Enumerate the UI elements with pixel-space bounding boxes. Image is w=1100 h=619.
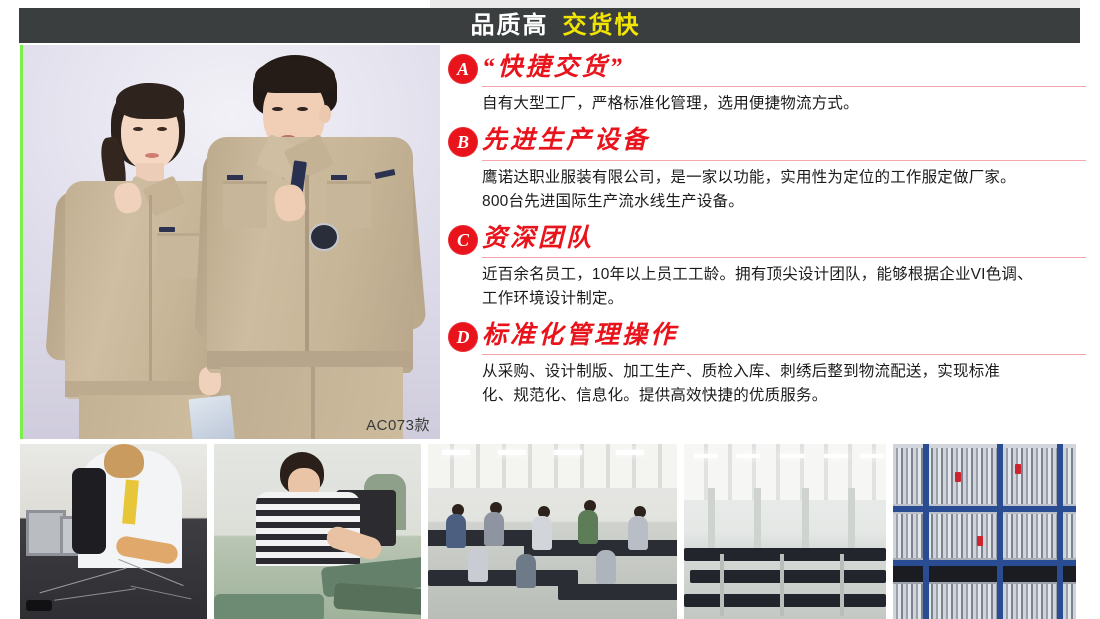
feature-body-b-line-1: 鹰诺达职业服装有限公司，是一家以功能，实用性为定位的工作服定做厂家。 (482, 166, 1086, 190)
feature-body-d-line-2: 化、规范化、信息化。提供高效快捷的优质服务。 (482, 384, 1086, 408)
header-banner: 品质高 交货快 (19, 8, 1080, 43)
worker-body (484, 512, 504, 546)
worker-vest (72, 468, 106, 554)
feature-badge-d: D (448, 322, 478, 352)
model-male-wristwatch (309, 223, 339, 251)
feature-divider-d (482, 354, 1086, 355)
model-male-navy-tab-right (331, 175, 347, 180)
model-female-lips (145, 153, 159, 158)
cutting-tool (26, 600, 52, 611)
ceiling-lamp-icon (736, 454, 760, 458)
feature-item-c: C 资深团队 近百余名员工，10年以上员工工龄。拥有顶尖设计团队，能够根据企业V… (448, 223, 1086, 311)
fabric-bundle (214, 594, 324, 619)
gallery-thumb-cutting-workshop[interactable] (20, 444, 207, 619)
feature-body-a-line-1: 自有大型工厂，严格标准化管理，选用便捷物流方式。 (482, 92, 1086, 116)
worker-body (516, 554, 536, 588)
worker-body (532, 516, 552, 550)
feature-badge-c: C (448, 225, 478, 255)
feature-body-c-line-1: 近百余名员工，10年以上员工工龄。拥有顶尖设计团队，能够根据企业VI色调、 (482, 263, 1086, 287)
feature-badge-a: A (448, 54, 478, 84)
model-male-placket (305, 175, 309, 365)
rail-post (840, 554, 844, 616)
model-male-navy-tab-left (227, 175, 243, 180)
feature-divider-a (482, 86, 1086, 87)
feature-item-d: D 标准化管理操作 从采购、设计制版、加工生产、质检入库、刺绣后整到物流配送，实… (448, 320, 1086, 408)
ceiling-lamp-icon (780, 454, 804, 458)
feature-title-c: 资深团队 (482, 223, 1086, 256)
feature-title-a: “快捷交货” (482, 52, 1086, 85)
rack-upright (997, 444, 1003, 619)
rack-upright (923, 444, 929, 619)
model-female-placket (149, 195, 152, 395)
hall-pillar (754, 488, 761, 554)
feature-body-a: 自有大型工厂，严格标准化管理，选用便捷物流方式。 (482, 92, 1086, 116)
model-female-chest-pocket (157, 233, 199, 278)
ceiling-lamp-icon (554, 450, 582, 455)
promo-page: 品质高 交货快 (0, 0, 1100, 619)
ceiling-lamp-icon (824, 454, 848, 458)
worker-body (578, 510, 598, 544)
rack-beam (893, 506, 1076, 512)
gallery-thumb-production-line[interactable] (428, 444, 677, 619)
worker-body (446, 514, 466, 548)
feature-item-a: A “快捷交货” 自有大型工厂，严格标准化管理，选用便捷物流方式。 (448, 52, 1086, 116)
model-male-chest-pocket-left (223, 181, 267, 228)
feature-item-b: B 先进生产设备 鹰诺达职业服装有限公司，是一家以功能，实用性为定位的工作服定做… (448, 125, 1086, 213)
feature-title-b: 先进生产设备 (482, 125, 1086, 158)
model-male-eye-right (297, 107, 308, 111)
feature-body-d-line-1: 从采购、设计制版、加工生产、质检入库、刺绣后整到物流配送，实现标准 (482, 360, 1086, 384)
feature-body-c-line-2: 工作环境设计制定。 (482, 287, 1086, 311)
ceiling-lamp-icon (498, 450, 526, 455)
hall-pillar (848, 488, 855, 554)
feature-divider-c (482, 257, 1086, 258)
garment-bag-row (893, 514, 1076, 558)
model-male-trouser-seam (311, 367, 315, 439)
product-code-label: AC073款 (366, 414, 430, 435)
feature-divider-b (482, 160, 1086, 161)
product-hero-photo[interactable]: AC073款 (20, 45, 440, 439)
ceiling-lamp-icon (442, 450, 470, 455)
banner-title-group: 品质高 交货快 (471, 14, 641, 38)
gallery-thumb-sewing-operator[interactable] (214, 444, 421, 619)
gallery-thumb-conveyor-hall[interactable] (684, 444, 886, 619)
inventory-tag (977, 536, 983, 546)
garment-bag-row (893, 448, 1076, 504)
feature-body-b-line-2: 800台先进国际生产流水线生产设备。 (482, 190, 1086, 214)
model-female-hair-front (116, 83, 184, 119)
inventory-tag (1015, 464, 1021, 474)
model-male-eye-left (272, 107, 283, 111)
banner-title-accent: 交货快 (563, 14, 641, 38)
model-male-chest-pocket-right (327, 181, 371, 228)
hall-pillar (708, 488, 715, 554)
rack-upright (1057, 444, 1063, 619)
feature-body-b: 鹰诺达职业服装有限公司，是一家以功能，实用性为定位的工作服定做厂家。 800台先… (482, 166, 1086, 214)
feature-title-d: 标准化管理操作 (482, 320, 1086, 353)
model-male-ear (319, 105, 331, 123)
worker-head (104, 444, 144, 478)
conveyor-rail (684, 548, 886, 561)
feature-body-d: 从采购、设计制版、加工生产、质检入库、刺绣后整到物流配送，实现标准 化、规范化、… (482, 360, 1086, 408)
rack-shelf-shadow (893, 566, 1076, 582)
workbench-row (428, 530, 538, 546)
model-male-folder (189, 395, 236, 439)
rail-post (780, 554, 784, 616)
ceiling-lamp-icon (616, 450, 644, 455)
worker-body (596, 550, 616, 584)
hall-pillar (802, 488, 809, 554)
garment-bag-row (893, 584, 1076, 619)
feature-badge-b: B (448, 127, 478, 157)
worker-body (628, 516, 648, 550)
ceiling-lamp-icon (694, 454, 718, 458)
banner-title-primary: 品质高 (471, 14, 549, 38)
gallery-thumb-warehouse-rack[interactable] (893, 444, 1076, 619)
feature-body-c: 近百余名员工，10年以上员工工龄。拥有顶尖设计团队，能够根据企业VI色调、 工作… (482, 263, 1086, 311)
model-female-eye-right (157, 127, 167, 131)
conveyor-rail (684, 594, 886, 607)
workbench-row (558, 584, 677, 600)
worker-body (468, 548, 488, 582)
model-female-eye-left (133, 127, 143, 131)
model-male-fringe (255, 59, 335, 93)
inventory-tag (955, 472, 961, 482)
ceiling-lamp-icon (860, 454, 884, 458)
factory-gallery-strip (20, 444, 1080, 619)
workbench-row (428, 570, 578, 586)
rail-post (720, 554, 724, 616)
feature-list: A “快捷交货” 自有大型工厂，严格标准化管理，选用便捷物流方式。 B 先进生产… (448, 52, 1086, 408)
model-female-navy-tab (159, 227, 175, 232)
